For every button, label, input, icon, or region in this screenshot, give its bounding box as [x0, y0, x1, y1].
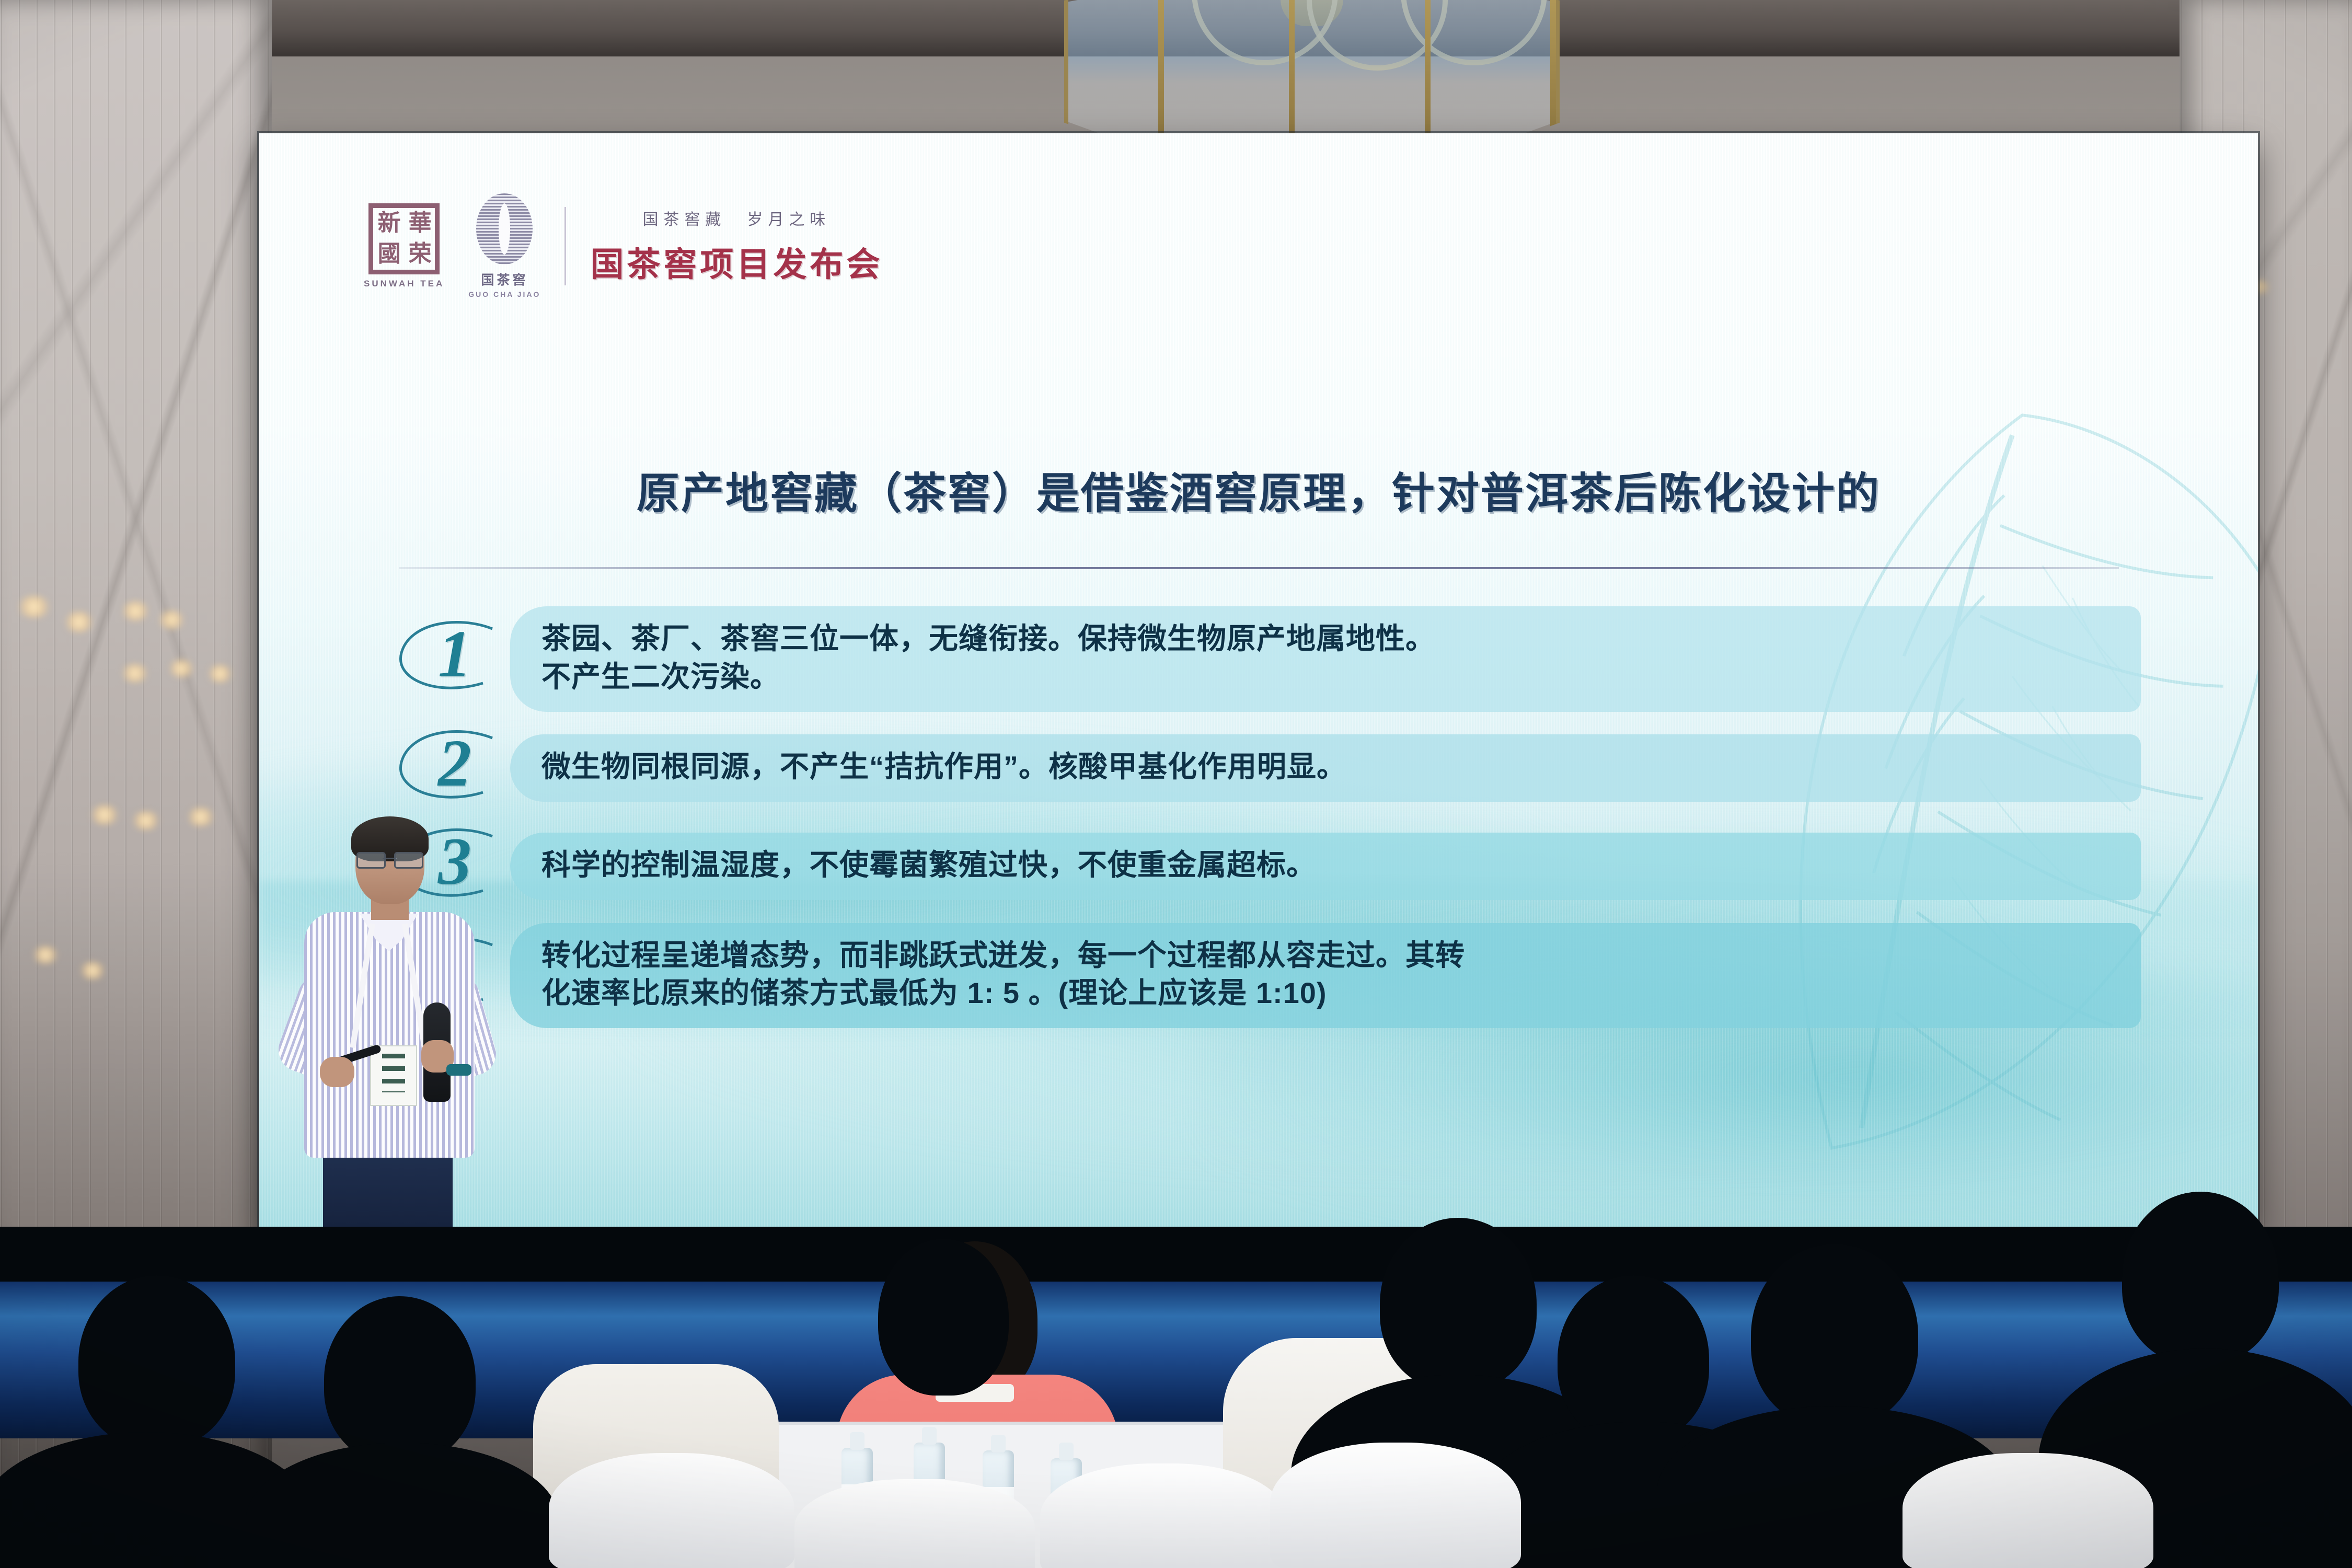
header-divider — [564, 207, 566, 285]
bullet-text-bar: 科学的控制温湿度，不使霉菌繁殖过快，不使重金属超标。 — [510, 833, 2141, 900]
bokeh-light — [206, 665, 234, 683]
bokeh-light — [78, 962, 107, 979]
bokeh-light — [89, 805, 120, 825]
bullet-text-bar: 转化过程呈递增态势，而非跳跃式迸发，每一个过程都从容走过。其转 化速率比原来的储… — [510, 923, 2141, 1029]
bokeh-light — [16, 596, 52, 618]
bokeh-light — [31, 946, 60, 964]
bullet-text-bar: 茶园、茶厂、茶窖三位一体，无缝衔接。保持微生物原产地属地性。 不产生二次污染。 — [510, 606, 2141, 712]
audience-head — [1558, 1275, 1709, 1443]
chair-back — [1270, 1443, 1521, 1568]
audience-head — [2122, 1192, 2279, 1364]
bullet-line: 转化过程呈递增态势，而非跳跃式迸发，每一个过程都从容走过。其转 — [541, 937, 2117, 975]
sunwah-seal-icon: 新 華 國 荣 — [368, 203, 440, 274]
presenter-left-hand — [320, 1057, 354, 1087]
glasses-icon — [356, 852, 423, 866]
slide-brand-header: 新 華 國 荣 SUNWAH TEA 国茶窖 GUO CHA JIAO 国茶窖藏… — [364, 193, 883, 298]
chair-back — [1040, 1463, 1286, 1568]
seal-char: 國 — [378, 243, 400, 265]
event-title: 国茶窖项目发布会 — [590, 238, 883, 286]
bokeh-light — [120, 601, 151, 621]
seal-char: 新 — [378, 212, 400, 234]
slide-title: 原产地窖藏（茶窖）是借鉴酒窖原理，针对普洱茶后陈化设计的 — [259, 458, 2258, 521]
chair-back — [549, 1453, 794, 1568]
conference-hall-photo: 新 華 國 荣 SUNWAH TEA 国茶窖 GUO CHA JIAO 国茶窖藏… — [0, 0, 2352, 1568]
audience-head — [1380, 1218, 1537, 1390]
bullet-item: 1 茶园、茶厂、茶窖三位一体，无缝衔接。保持微生物原产地属地性。 不产生二次污染… — [390, 606, 2141, 712]
bullet-number-badge: 2 — [390, 727, 510, 810]
bullet-line: 科学的控制温湿度，不使霉菌繁殖过快，不使重金属超标。 — [541, 846, 2117, 884]
bullet-item: 3 科学的控制温湿度，不使霉菌繁殖过快，不使重金属超标。 — [390, 825, 2141, 908]
sunwah-logo-en: SUNWAH TEA — [364, 279, 444, 289]
bokeh-light — [186, 808, 216, 826]
name-badge — [370, 1045, 417, 1106]
seal-char: 華 — [409, 212, 431, 234]
seal-char: 荣 — [409, 243, 431, 265]
guochajiao-logo: 国茶窖 GUO CHA JIAO — [468, 193, 540, 298]
chandelier-frame — [1064, 0, 1560, 148]
bullet-number-badge: 1 — [390, 617, 510, 701]
bullet-item: 4 转化过程呈递增态势，而非跳跃式迸发，每一个过程都从容走过。其转 化速率比原来… — [390, 923, 2141, 1029]
wristwatch — [446, 1064, 471, 1076]
title-divider — [399, 567, 2119, 569]
sunwah-logo: 新 華 國 荣 SUNWAH TEA — [364, 203, 444, 289]
bokeh-light — [63, 612, 95, 632]
bullet-number: 1 — [438, 620, 471, 687]
bullet-text-bar: 微生物同根同源，不产生“拮抗作用”。核酸甲基化作用明显。 — [510, 734, 2141, 802]
bullet-line: 茶园、茶厂、茶窖三位一体，无缝衔接。保持微生物原产地属地性。 — [541, 620, 2117, 658]
projection-screen: 新 華 國 荣 SUNWAH TEA 国茶窖 GUO CHA JIAO 国茶窖藏… — [259, 133, 2258, 1227]
bullet-line: 化速率比原来的储茶方式最低为 1: 5 。(理论上应该是 1:10) — [541, 974, 2117, 1012]
bokeh-light — [167, 660, 195, 677]
guochajiao-logo-cn: 国茶窖 — [481, 270, 528, 289]
event-branding: 国茶窖藏 岁月之味 国茶窖项目发布会 — [590, 206, 883, 286]
bokeh-light — [157, 610, 186, 629]
bullet-number: 2 — [438, 730, 471, 797]
audience-head — [878, 1239, 1009, 1396]
tea-leaf-mark-icon — [476, 193, 533, 264]
chair-back — [794, 1479, 1035, 1568]
audience-head — [78, 1275, 235, 1448]
bokeh-light — [131, 811, 161, 830]
bullet-list: 1 茶园、茶厂、茶窖三位一体，无缝衔接。保持微生物原产地属地性。 不产生二次污染… — [390, 606, 2141, 1043]
event-tagline: 国茶窖藏 岁月之味 — [642, 206, 831, 229]
chair-back — [1903, 1453, 2153, 1568]
bullet-item: 2 微生物同根同源，不产生“拮抗作用”。核酸甲基化作用明显。 — [390, 727, 2141, 810]
bullet-line: 不产生二次污染。 — [541, 658, 2117, 696]
guochajiao-logo-en: GUO CHA JIAO — [468, 290, 540, 298]
bokeh-light — [120, 664, 149, 683]
bullet-line: 微生物同根同源，不产生“拮抗作用”。核酸甲基化作用明显。 — [541, 748, 2117, 786]
audience-head — [324, 1296, 476, 1463]
presenter-speaker — [293, 821, 481, 1239]
audience-head — [1751, 1244, 1918, 1427]
